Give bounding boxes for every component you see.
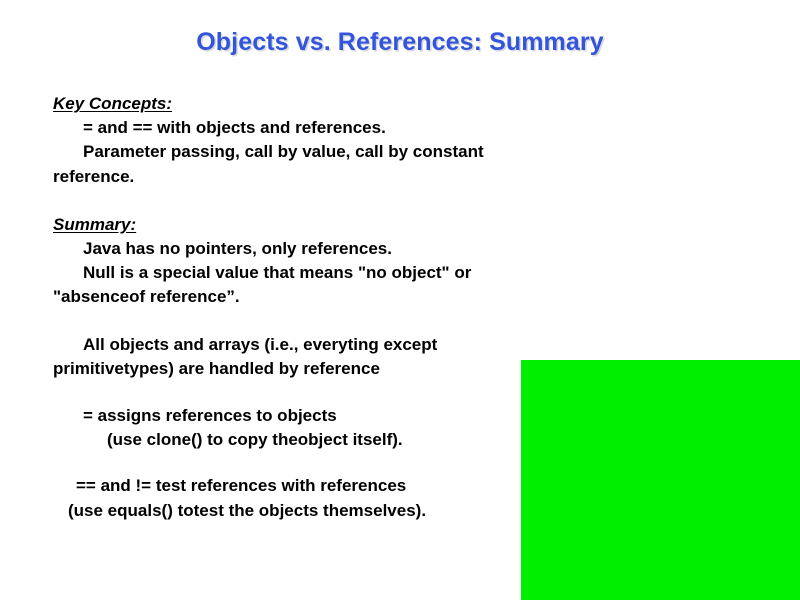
body-line: "absenceof reference”.	[53, 285, 573, 309]
spacer	[53, 310, 573, 333]
body-line: primitivetypes) are handled by reference	[53, 357, 573, 381]
spacer	[53, 452, 573, 474]
spacer	[53, 189, 573, 213]
body-line: = and == with objects and references.	[53, 116, 573, 140]
body-line: Parameter passing, call by value, call b…	[53, 140, 573, 164]
body-line: All objects and arrays (i.e., everyting …	[53, 333, 573, 357]
section-heading-summary: Summary:	[53, 213, 573, 237]
section-assignment: = assigns references to objects (use clo…	[53, 404, 573, 452]
body-line: (use clone() to copy theobject itself).	[53, 428, 573, 452]
body-line: = assigns references to objects	[53, 404, 573, 428]
body-line: (use equals() totest the objects themsel…	[53, 499, 573, 523]
spacer	[53, 381, 573, 404]
section-heading-key-concepts: Key Concepts:	[53, 92, 573, 116]
page-title: Objects vs. References: Summary	[0, 28, 800, 57]
slide-canvas: Objects vs. References: Summary Key Conc…	[0, 0, 800, 600]
body-line: reference.	[53, 165, 573, 189]
section-key-concepts: Key Concepts: = and == with objects and …	[53, 92, 573, 189]
slide-body: Key Concepts: = and == with objects and …	[53, 92, 573, 523]
section-summary: Summary: Java has no pointers, only refe…	[53, 213, 573, 310]
body-line: Null is a special value that means "no o…	[53, 261, 573, 285]
body-line: == and != test references with reference…	[53, 474, 573, 498]
section-comparison: == and != test references with reference…	[53, 474, 573, 522]
section-objects-arrays: All objects and arrays (i.e., everyting …	[53, 333, 573, 381]
body-line: Java has no pointers, only references.	[53, 237, 573, 261]
